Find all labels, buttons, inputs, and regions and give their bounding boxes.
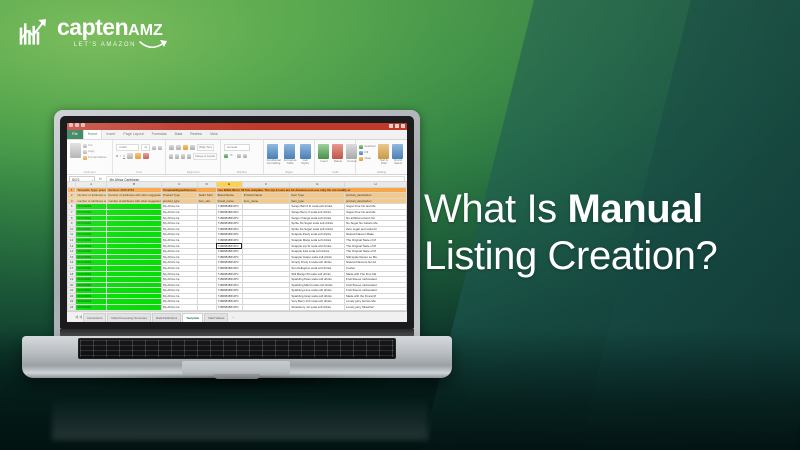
conditional-formatting-button[interactable]: Conditional Formatting: [267, 144, 281, 165]
sheet-tab-bar[interactable]: Instructions Data Processing Summary Dat…: [67, 311, 407, 322]
insert-cells-button[interactable]: Insert: [318, 144, 329, 164]
sheet-nav-first-icon[interactable]: [75, 315, 78, 319]
sheet-tab-instructions[interactable]: Instructions: [83, 313, 106, 322]
cell-upc[interactable]: 7180684BFUPC: [216, 282, 242, 288]
cell-upc[interactable]: 7180684BFUPC: [216, 305, 242, 311]
ribbon-group-alignment[interactable]: Wrap Text Merge & Center: [166, 140, 221, 174]
font-style-row[interactable]: B I U: [116, 153, 162, 159]
clipboard-group-label: Clipboard: [70, 170, 109, 174]
cell-upc[interactable]: 7180684BFUPC: [216, 265, 242, 271]
cells-group-label: Cells: [318, 170, 352, 174]
tab-review[interactable]: Review: [186, 130, 206, 139]
cell-styles-button[interactable]: Cell Styles: [300, 144, 311, 165]
conditional-formatting-label: Conditional Formatting: [267, 159, 281, 165]
ribbon-group-font[interactable]: Calibri 11 B I U: [113, 140, 166, 174]
laptop-lid: File Home Insert Page Layout Formulas Da…: [54, 110, 420, 340]
comma-button[interactable]: ,: [235, 153, 236, 158]
format-as-table-label: Format as Table: [284, 159, 297, 165]
cell-upc[interactable]: 7180684BFUPC: [216, 237, 242, 243]
headline-line-2: Listing Creation?: [424, 233, 784, 280]
font-family-select[interactable]: Calibri: [116, 144, 139, 151]
cell-upc[interactable]: 7180684BFUPC: [216, 221, 242, 227]
format-painter-button[interactable]: Format Painter: [83, 155, 107, 160]
format-as-table-button[interactable]: Format as Table: [284, 144, 297, 165]
paste-icon[interactable]: [70, 143, 81, 158]
find-select-icon: [392, 144, 403, 159]
cell-upc[interactable]: 7180684BFUPC: [216, 243, 242, 249]
sheet-tab-template[interactable]: Template: [182, 313, 203, 322]
format-as-table-icon: [284, 144, 295, 159]
font-group-label: Font: [116, 170, 162, 174]
brand-wordmark: capten AMZ LET'S AMAZON: [57, 14, 163, 48]
sheet-tab-data-processing-summary[interactable]: Data Processing Summary: [107, 313, 151, 322]
grid-table: A B C D E F G H 1: [67, 181, 407, 311]
headline-line-1: What Is Manual: [424, 186, 784, 233]
laptop-screen: File Home Insert Page Layout Formulas Da…: [67, 123, 407, 322]
ribbon-group-number[interactable]: General % ,: [221, 140, 264, 174]
align-middle-icon[interactable]: [176, 145, 181, 150]
font-color-icon[interactable]: [143, 153, 149, 159]
alignment-group-label: Alignment: [169, 170, 217, 174]
align-center-icon[interactable]: [175, 154, 179, 159]
cell-upc[interactable]: 7180684BFUPC: [216, 209, 242, 215]
close-icon[interactable]: [401, 124, 405, 128]
sort-filter-label: Sort & Filter: [378, 159, 390, 165]
cell-upc[interactable]: 7180684BFUPC: [216, 299, 242, 305]
laptop-keyboard: [78, 338, 396, 359]
ribbon-tab-bar[interactable]: File Home Insert Page Layout Formulas Da…: [67, 130, 407, 140]
banner-template-type: Template Type: precadime: [76, 187, 107, 193]
delete-cells-button[interactable]: Delete: [332, 144, 343, 164]
header1-col-b: Number of attributes with other suggeste…: [107, 193, 162, 199]
cell-styles-label: Cell Styles: [300, 159, 311, 165]
cell-upc[interactable]: 7180684BFUPC: [216, 260, 242, 266]
data-row-group: 6SUCCESSMy Africa Ca7180684BFUPCSango Ba…: [68, 204, 407, 311]
cut-label: Cut: [88, 143, 92, 148]
underline-button[interactable]: U: [123, 154, 125, 159]
sort-filter-icon: [378, 144, 389, 159]
autosum-icon: [359, 145, 363, 149]
number-format-row[interactable]: General: [224, 144, 260, 151]
italic-button[interactable]: I: [120, 154, 121, 159]
align-bottom-icon[interactable]: [183, 145, 188, 150]
laptop-reflection: [52, 396, 428, 440]
ribbon-group-editing[interactable]: AutoSum Fill Clear: [356, 140, 407, 174]
number-format-select[interactable]: General: [224, 144, 250, 151]
autosum-button[interactable]: AutoSum: [359, 144, 376, 149]
save-icon[interactable]: [69, 123, 73, 127]
tab-home[interactable]: Home: [83, 130, 103, 139]
font-size-select[interactable]: 11: [141, 144, 150, 151]
copy-label: Copy: [88, 149, 95, 154]
maximize-icon[interactable]: [395, 124, 399, 128]
laptop-device: File Home Insert Page Layout Formulas Da…: [22, 110, 452, 390]
add-sheet-button[interactable]: +: [229, 313, 237, 321]
headline-bold-text: Manual: [568, 187, 703, 231]
format-painter-label: Format Painter: [88, 155, 107, 160]
excel-window: File Home Insert Page Layout Formulas Da…: [67, 123, 407, 322]
copy-button[interactable]: Copy: [83, 149, 107, 154]
keyboard-keys: [80, 340, 394, 357]
styles-group-label: Styles: [267, 170, 312, 174]
quick-access-toolbar[interactable]: [69, 123, 85, 127]
sheet-nav-prev-icon[interactable]: [79, 315, 82, 319]
clear-label: Clear: [364, 156, 371, 161]
orientation-icon[interactable]: [190, 145, 195, 150]
ribbon-group-cells[interactable]: Insert Delete Format: [315, 140, 356, 174]
cell-upc[interactable]: 7180684BFUPC: [216, 277, 242, 283]
cell-upc[interactable]: 7180684BFUPC: [216, 288, 242, 294]
cut-button[interactable]: Cut: [83, 143, 107, 148]
indent-icon[interactable]: [187, 154, 191, 159]
fill-label: Fill: [364, 150, 368, 155]
bar-chart-arrow-icon: [18, 14, 52, 48]
percent-button[interactable]: %: [230, 153, 233, 158]
find-select-button[interactable]: Find & Select: [392, 144, 404, 165]
laptop-bezel: File Home Insert Page Layout Formulas Da…: [60, 116, 414, 329]
laptop-trackpad: [182, 361, 290, 375]
align-right-icon[interactable]: [181, 154, 185, 159]
redo-icon[interactable]: [81, 123, 85, 127]
excel-title-bar: [67, 123, 407, 130]
minimize-icon[interactable]: [389, 124, 393, 128]
align-vertical-row[interactable]: Wrap Text: [169, 144, 217, 151]
header2-col-a: number of attributes with: [76, 198, 107, 204]
eraser-icon: [359, 157, 363, 161]
increase-decimal-icon[interactable]: [237, 154, 241, 158]
tab-view[interactable]: View: [206, 130, 222, 139]
wrap-text-button[interactable]: Wrap Text: [197, 144, 214, 151]
laptop-shadow: [28, 376, 448, 398]
swoosh-arrow-icon: [139, 38, 169, 52]
insert-icon: [318, 144, 329, 159]
brand-tagline: LET'S AMAZON: [57, 42, 163, 48]
merge-center-button[interactable]: Merge & Center: [193, 153, 217, 160]
brand-name-secondary: AMZ: [128, 23, 163, 39]
cell-upc[interactable]: 7180684BFUPC: [216, 249, 242, 255]
header2-col-b: number of attributes with other suggeste…: [107, 198, 162, 204]
delete-icon: [332, 144, 343, 159]
tab-file[interactable]: File: [67, 130, 83, 139]
spreadsheet-grid[interactable]: A B C D E F G H 1: [67, 181, 407, 311]
currency-icon[interactable]: [224, 154, 228, 158]
header1-col-a: Number of attributes with one: [76, 193, 107, 199]
slide-canvas: capten AMZ LET'S AMAZON: [0, 0, 800, 450]
cell-styles-icon: [300, 144, 311, 159]
paintbrush-icon: [83, 156, 87, 160]
align-horizontal-row[interactable]: Merge & Center: [169, 153, 217, 160]
page-title: What Is Manual Listing Creation?: [424, 186, 784, 280]
fill-icon: [359, 151, 363, 155]
ribbon-group-clipboard[interactable]: Cut Copy Format Painter: [67, 140, 113, 174]
increase-font-icon[interactable]: [152, 146, 156, 150]
decrease-decimal-icon[interactable]: [243, 154, 247, 158]
cell-upc[interactable]: 7180684BFUPC: [216, 226, 242, 232]
tab-page-layout[interactable]: Page Layout: [119, 130, 147, 139]
tab-data[interactable]: Data: [171, 130, 187, 139]
cell-upc[interactable]: 7180684BFUPC: [216, 215, 242, 221]
sheet-tab-valid-values[interactable]: Valid Values: [204, 313, 228, 322]
clear-button[interactable]: Clear: [359, 156, 376, 161]
tab-insert[interactable]: Insert: [102, 130, 119, 139]
cell-upc[interactable]: 7180684BFUPC: [216, 204, 242, 210]
fill-color-icon[interactable]: [135, 153, 141, 159]
scissors-icon: [83, 144, 87, 148]
borders-icon[interactable]: [127, 153, 133, 159]
undo-icon[interactable]: [75, 123, 79, 127]
cell-upc[interactable]: 7180684BFUPC: [216, 232, 242, 238]
font-family-row[interactable]: Calibri 11: [116, 144, 162, 151]
decrease-font-icon[interactable]: [158, 146, 162, 150]
ribbon-group-styles[interactable]: Conditional Formatting Format as Table C…: [264, 140, 316, 174]
copy-icon: [83, 150, 87, 154]
sheet-tab-data-definitions[interactable]: Data Definitions: [152, 313, 181, 322]
number-group-label: Number: [224, 170, 260, 174]
window-controls[interactable]: [389, 124, 405, 128]
sort-filter-button[interactable]: Sort & Filter: [378, 144, 390, 165]
conditional-formatting-icon: [267, 144, 278, 159]
cell-upc[interactable]: 7180684BFUPC: [216, 254, 242, 260]
tab-formulas[interactable]: Formulas: [148, 130, 171, 139]
headline-normal-text: What Is: [424, 187, 568, 231]
find-select-label: Find & Select: [392, 159, 404, 165]
cell-upc[interactable]: 7180684BFUPC: [216, 293, 242, 299]
align-left-icon[interactable]: [169, 154, 173, 159]
align-top-icon[interactable]: [169, 145, 174, 150]
brand-logo[interactable]: capten AMZ LET'S AMAZON: [18, 14, 163, 48]
autosum-label: AutoSum: [364, 144, 376, 149]
insert-label: Insert: [318, 159, 329, 164]
cell-upc[interactable]: 7180684BFUPC: [216, 271, 242, 277]
fill-button[interactable]: Fill: [359, 150, 376, 155]
editing-group-label: Editing: [359, 170, 404, 174]
number-buttons-row[interactable]: % ,: [224, 153, 260, 158]
excel-ribbon[interactable]: Cut Copy Format Painter: [67, 140, 407, 175]
delete-label: Delete: [332, 159, 343, 164]
bold-button[interactable]: B: [116, 154, 118, 159]
brand-name-primary: capten: [57, 16, 128, 39]
